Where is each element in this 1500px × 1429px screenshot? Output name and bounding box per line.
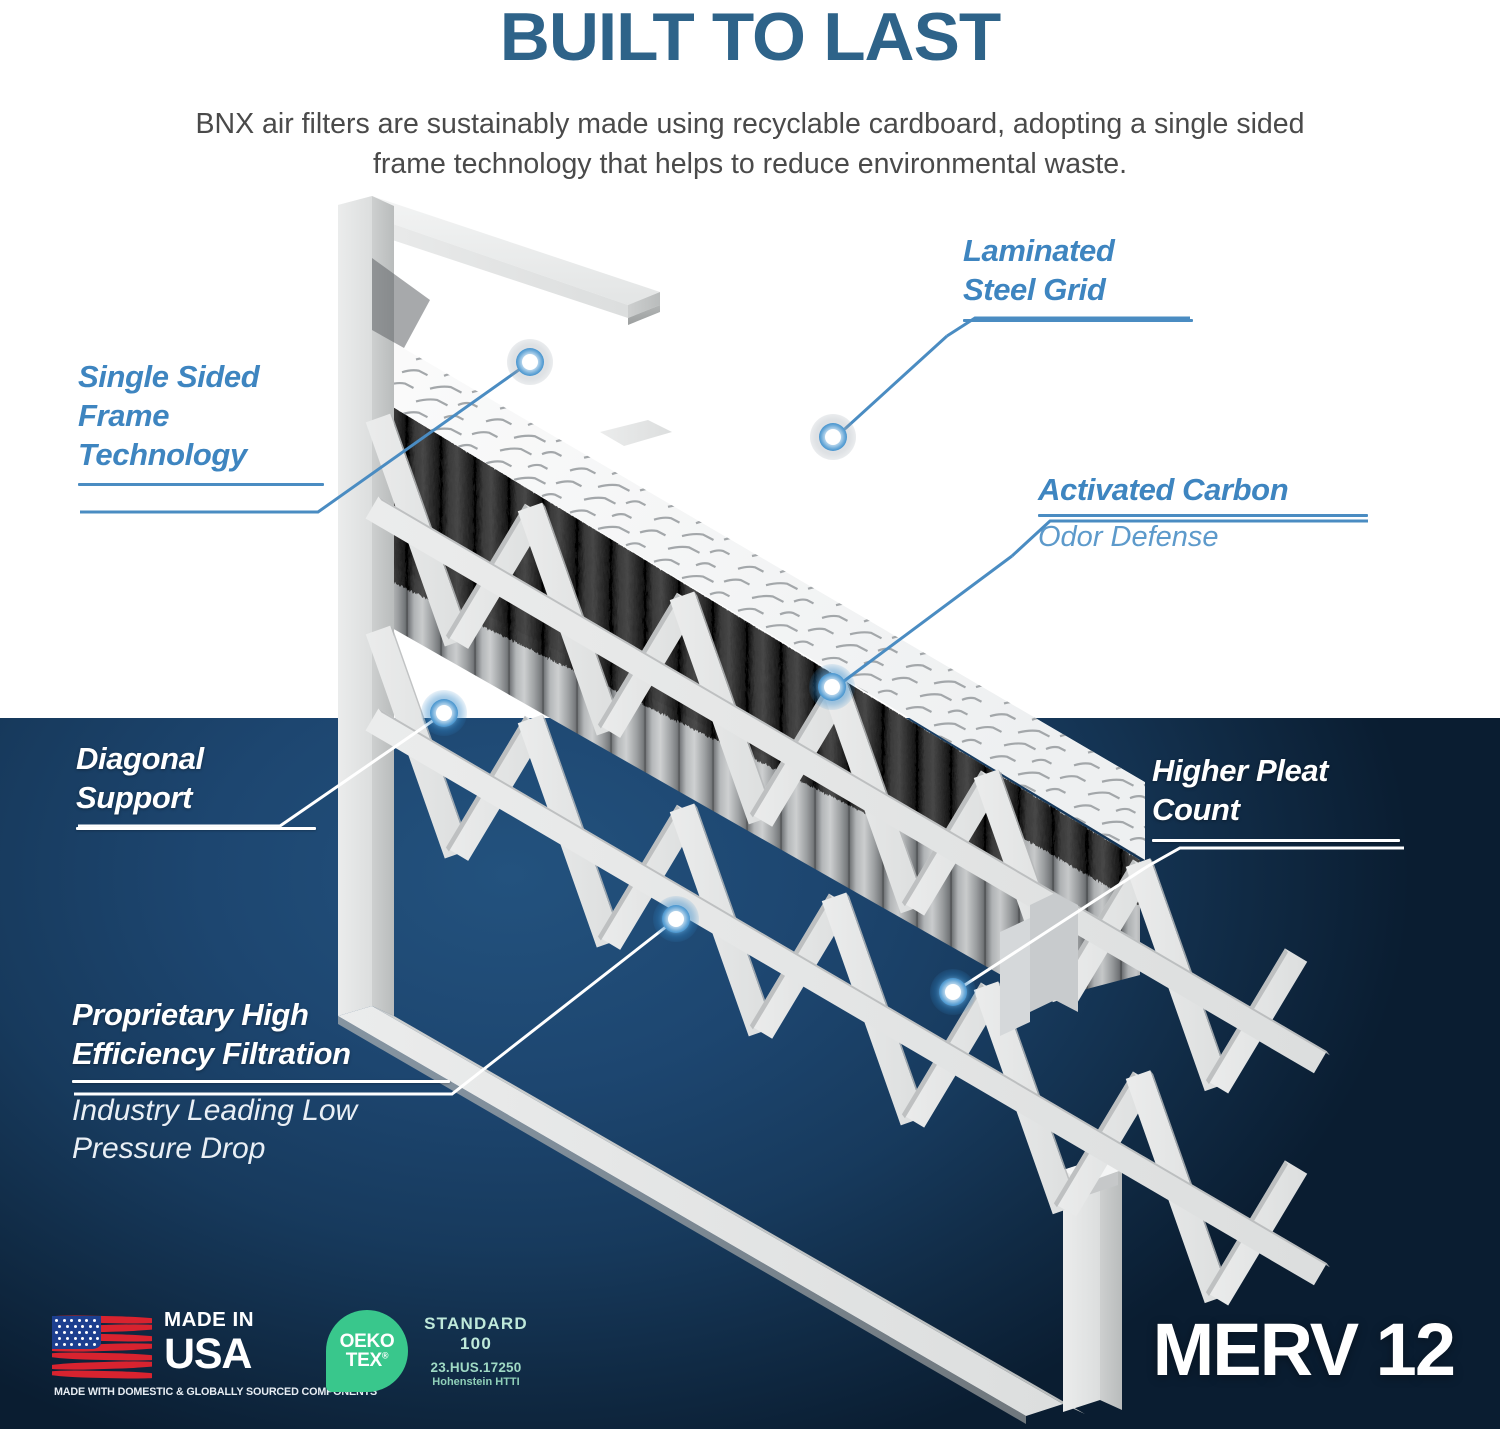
standard-label: STANDARD 100 (416, 1314, 536, 1353)
callout-single-sided-frame-technology: Single Sided Frame Technology (78, 358, 378, 486)
oeko-label: OEKO (340, 1332, 395, 1351)
marker-core (825, 429, 841, 445)
callout-heading-line: Diagonal (76, 740, 376, 779)
callout-laminated-steel-grid: Laminated Steel Grid (963, 232, 1293, 322)
callout-heading: Higher Pleat Count (1152, 752, 1482, 830)
callout-subtext-line: Industry Leading Low (72, 1092, 472, 1130)
callout-heading-line: Support (76, 779, 376, 818)
callout-heading-line: Proprietary High (72, 995, 472, 1034)
merv-rating: MERV 12 (1153, 1313, 1454, 1387)
tex-label: TEX® (346, 1351, 388, 1370)
marker-core (522, 354, 538, 370)
callout-heading: Laminated Steel Grid (963, 232, 1293, 310)
marker-diagonal-support[interactable] (421, 690, 467, 736)
callout-heading-line: Technology (78, 436, 378, 475)
testing-institute: Hohenstein HTTI (416, 1376, 536, 1388)
callout-heading-line: Laminated (963, 232, 1293, 271)
marker-core (945, 984, 961, 1000)
callout-proprietary-high-efficiency-filtration: Proprietary High Efficiency Filtration I… (72, 995, 472, 1169)
callout-higher-pleat-count: Higher Pleat Count (1152, 752, 1482, 842)
oeko-tex-badge: OEKO TEX® STANDARD 100 23.HUS.17250 Hohe… (326, 1310, 526, 1402)
callout-heading-line: Frame (78, 397, 378, 436)
oeko-tex-droplet-icon: OEKO TEX® (326, 1310, 408, 1392)
callout-heading-line: Efficiency Filtration (72, 1034, 472, 1073)
callout-subtext: Industry Leading Low Pressure Drop (72, 1092, 472, 1169)
marker-core (668, 911, 684, 927)
marker-core (824, 679, 840, 695)
callout-heading-line: Steel Grid (963, 271, 1293, 310)
callout-diagonal-support: Diagonal Support (76, 740, 376, 830)
oeko-tex-details: STANDARD 100 23.HUS.17250 Hohenstein HTT… (416, 1314, 536, 1388)
callout-heading: Proprietary High Efficiency Filtration (72, 995, 472, 1073)
callout-heading: Single Sided Frame Technology (78, 358, 378, 475)
made-in-usa-text: MADE IN USA (164, 1310, 294, 1375)
leader-pleat-count-a (1148, 848, 1404, 866)
marker-pleat-count[interactable] (930, 969, 976, 1015)
page-title: BUILT TO LAST (0, 0, 1500, 76)
page-subtitle: BNX air filters are sustainably made usi… (190, 104, 1310, 185)
callout-heading: Diagonal Support (76, 740, 376, 818)
made-in-usa-badge: MADE IN USA MADE WITH DOMESTIC & GLOBALL… (52, 1310, 292, 1406)
marker-activated-carbon[interactable] (809, 664, 855, 710)
callout-underline (963, 319, 1193, 322)
callout-underline (76, 827, 316, 830)
callout-underline (78, 483, 324, 486)
flag-canton (52, 1316, 101, 1349)
callout-subtext: Odor Defense (1038, 521, 1378, 554)
callout-heading: Activated Carbon (1038, 471, 1378, 508)
callout-underline (72, 1080, 450, 1083)
sourced-components-note: MADE WITH DOMESTIC & GLOBALLY SOURCED CO… (54, 1386, 294, 1398)
callout-underline (1152, 839, 1400, 842)
infographic-canvas: BUILT TO LAST BNX air filters are sustai… (0, 0, 1500, 1429)
certificate-number: 23.HUS.17250 (416, 1360, 536, 1375)
marker-filtration-media[interactable] (653, 896, 699, 942)
marker-steel-grid-frame[interactable] (507, 339, 553, 385)
callout-subtext-line: Pressure Drop (72, 1130, 472, 1168)
marker-core (436, 705, 452, 721)
callout-heading-line: Single Sided (78, 358, 378, 397)
callout-activated-carbon: Activated Carbon Odor Defense (1038, 471, 1378, 554)
air-filter-illustration (0, 0, 1500, 1429)
callout-heading-line: Higher Pleat (1152, 752, 1482, 791)
callout-underline (1038, 514, 1368, 517)
made-in-label: MADE IN (164, 1310, 294, 1331)
callout-heading-line: Count (1152, 791, 1482, 830)
usa-label: USA (164, 1333, 294, 1375)
usa-flag-icon (52, 1314, 152, 1380)
marker-steel-grid[interactable] (810, 414, 856, 460)
